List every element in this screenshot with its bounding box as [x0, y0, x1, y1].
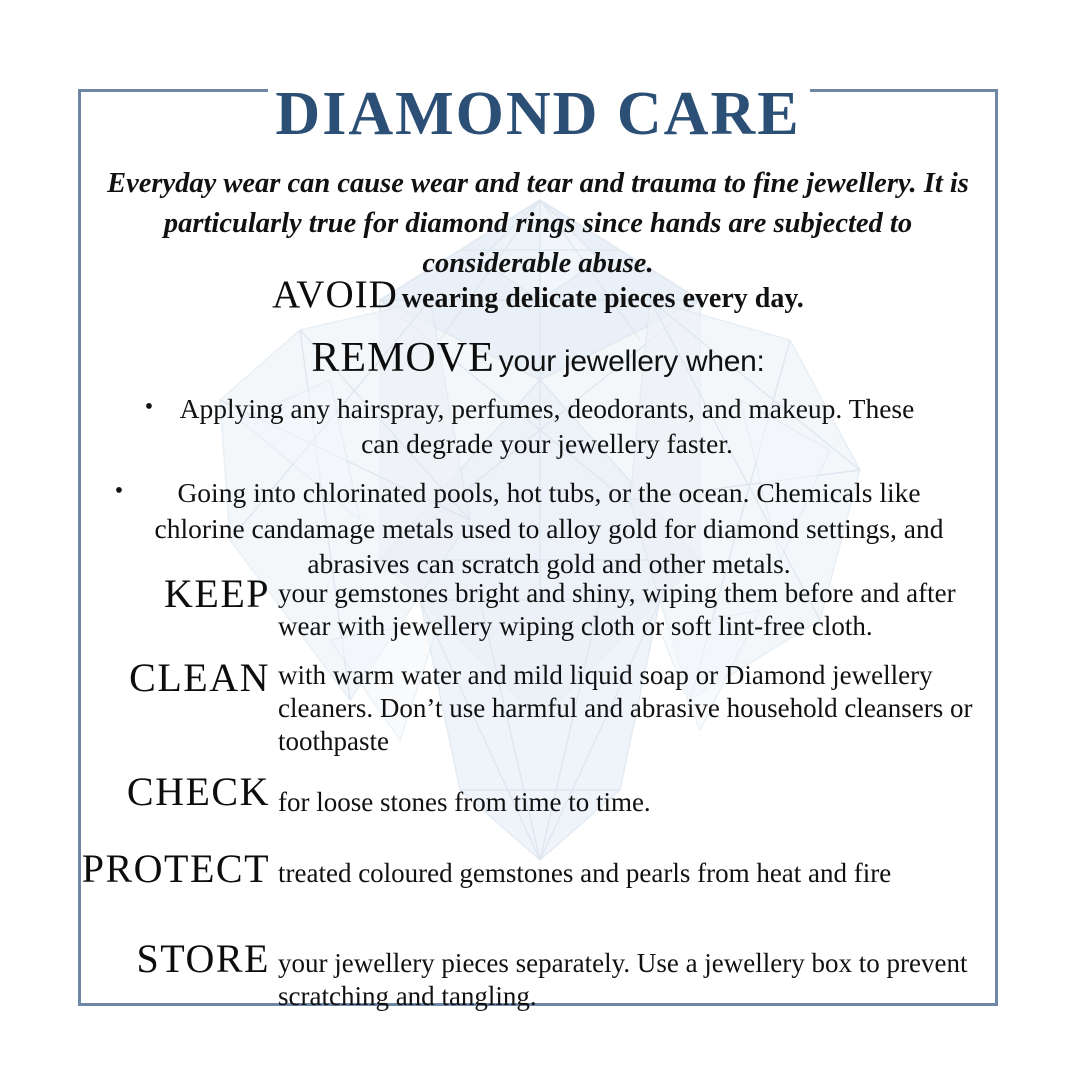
keyword-protect: PROTECT: [78, 849, 278, 889]
list-item: • Applying any hairspray, perfumes, deod…: [108, 391, 968, 461]
check-text: for loose stones from time to time.: [278, 772, 998, 819]
protect-text: treated coloured gemstones and pearls fr…: [278, 849, 998, 890]
keep-text: your gemstones bright and shiny, wiping …: [278, 574, 998, 643]
diamond-care-infographic: DIAMOND CARE Everyday wear can cause wea…: [0, 0, 1080, 1080]
section-avoid: AVOID wearing delicate pieces every day.: [78, 272, 998, 317]
section-store: STORE your jewellery pieces separately. …: [78, 939, 998, 1013]
keyword-remove: REMOVE: [311, 335, 494, 381]
section-remove: REMOVE your jewellery when:: [78, 334, 998, 382]
keyword-store: STORE: [78, 939, 278, 979]
bullet-dot-icon: •: [108, 475, 130, 507]
avoid-text: wearing delicate pieces every day.: [402, 283, 804, 314]
content-area: DIAMOND CARE Everyday wear can cause wea…: [78, 89, 998, 1006]
clean-text: with warm water and mild liquid soap or …: [278, 656, 998, 759]
bullet-text: Going into chlorinated pools, hot tubs, …: [130, 475, 968, 581]
section-protect: PROTECT treated coloured gemstones and p…: [78, 849, 998, 890]
section-check: CHECK for loose stones from time to time…: [78, 772, 998, 819]
page-title: DIAMOND CARE: [78, 83, 998, 145]
section-clean: CLEAN with warm water and mild liquid so…: [78, 656, 998, 759]
keyword-clean: CLEAN: [78, 656, 278, 698]
intro-paragraph: Everyday wear can cause wear and tear an…: [102, 164, 974, 285]
remove-bullet-list: • Applying any hairspray, perfumes, deod…: [108, 391, 968, 595]
keyword-avoid: AVOID: [272, 273, 398, 316]
store-text: your jewellery pieces separately. Use a …: [278, 939, 998, 1013]
remove-text: your jewellery when:: [499, 345, 765, 378]
section-keep: KEEP your gemstones bright and shiny, wi…: [78, 574, 998, 643]
bullet-dot-icon: •: [138, 391, 160, 423]
bullet-text: Applying any hairspray, perfumes, deodor…: [160, 391, 968, 461]
keyword-keep: KEEP: [78, 574, 278, 614]
keyword-check: CHECK: [78, 772, 278, 812]
list-item: • Going into chlorinated pools, hot tubs…: [108, 475, 968, 581]
